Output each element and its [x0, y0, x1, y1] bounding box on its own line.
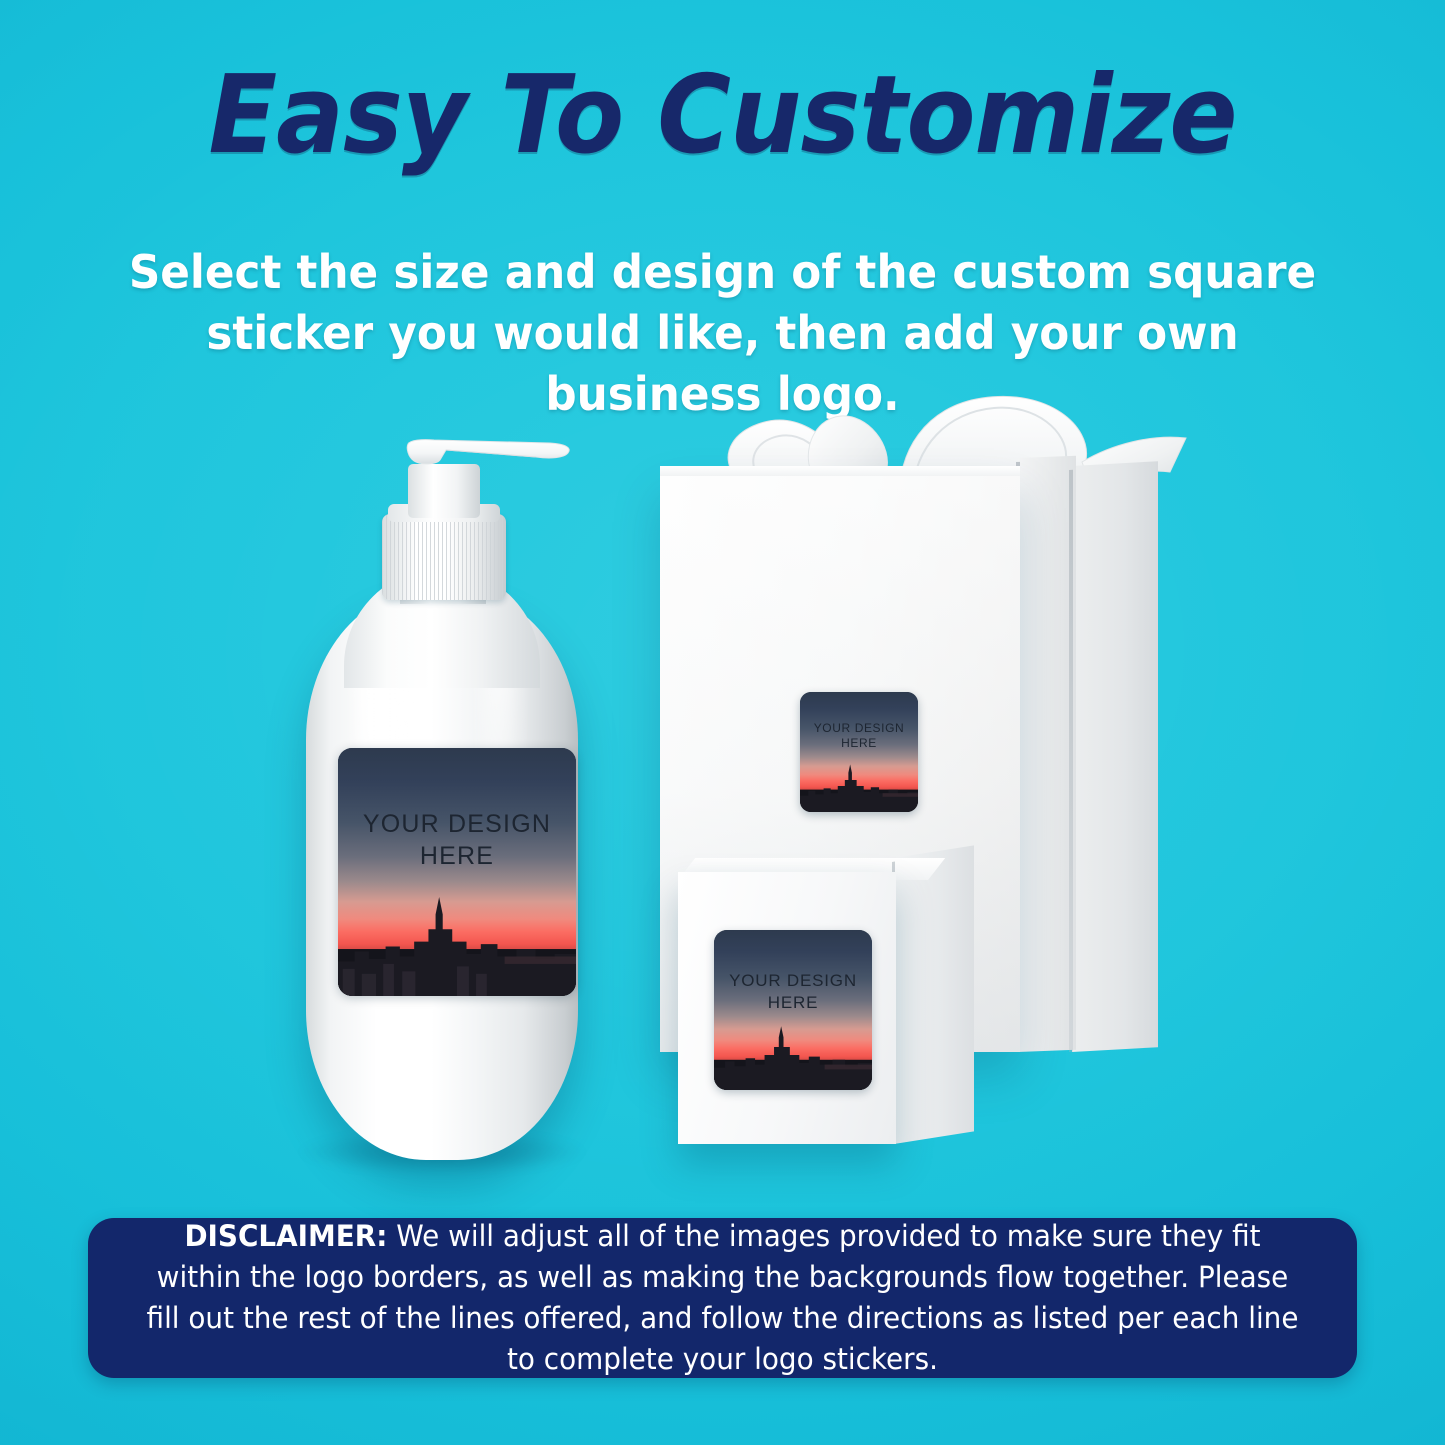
city-skyline-icon: [714, 1023, 872, 1090]
sticker-text-line2: HERE: [338, 840, 576, 873]
city-skyline-icon: [800, 762, 918, 812]
pump-shaft: [408, 464, 480, 518]
disclaimer-text: DISCLAIMER: We will adjust all of the im…: [146, 1216, 1299, 1381]
pump-collar: [382, 514, 506, 600]
pump-nozzle-icon: [400, 438, 580, 468]
sticker-on-cube-box: YOUR DESIGN HERE: [714, 930, 872, 1090]
gift-box-back-panel: [1072, 461, 1158, 1052]
sticker-text: YOUR DESIGN HERE: [338, 808, 576, 873]
sticker-text-line1: YOUR DESIGN: [729, 971, 857, 990]
sticker-text-line2: HERE: [714, 992, 872, 1014]
sticker-text: YOUR DESIGN HERE: [800, 721, 918, 752]
sticker-text-line2: HERE: [800, 736, 918, 752]
gift-box-lid-seam-2: [1069, 470, 1073, 1052]
cube-box-side-panel: [894, 845, 974, 1144]
sticker-text: YOUR DESIGN HERE: [714, 970, 872, 1014]
sticker-text-line1: YOUR DESIGN: [363, 810, 551, 838]
city-skyline-icon: [338, 892, 576, 996]
promo-graphic: Easy To Customize Select the size and de…: [0, 0, 1445, 1445]
sticker-text-line1: YOUR DESIGN: [814, 721, 905, 735]
disclaimer-banner: DISCLAIMER: We will adjust all of the im…: [88, 1218, 1357, 1378]
gift-box-side-panel: [1018, 456, 1076, 1052]
sticker-on-gift-box: YOUR DESIGN HERE: [800, 692, 918, 812]
sticker-on-bottle: YOUR DESIGN HERE: [338, 748, 576, 996]
gift-box-top-edge: [660, 466, 1020, 476]
disclaimer-label: DISCLAIMER:: [184, 1219, 387, 1253]
